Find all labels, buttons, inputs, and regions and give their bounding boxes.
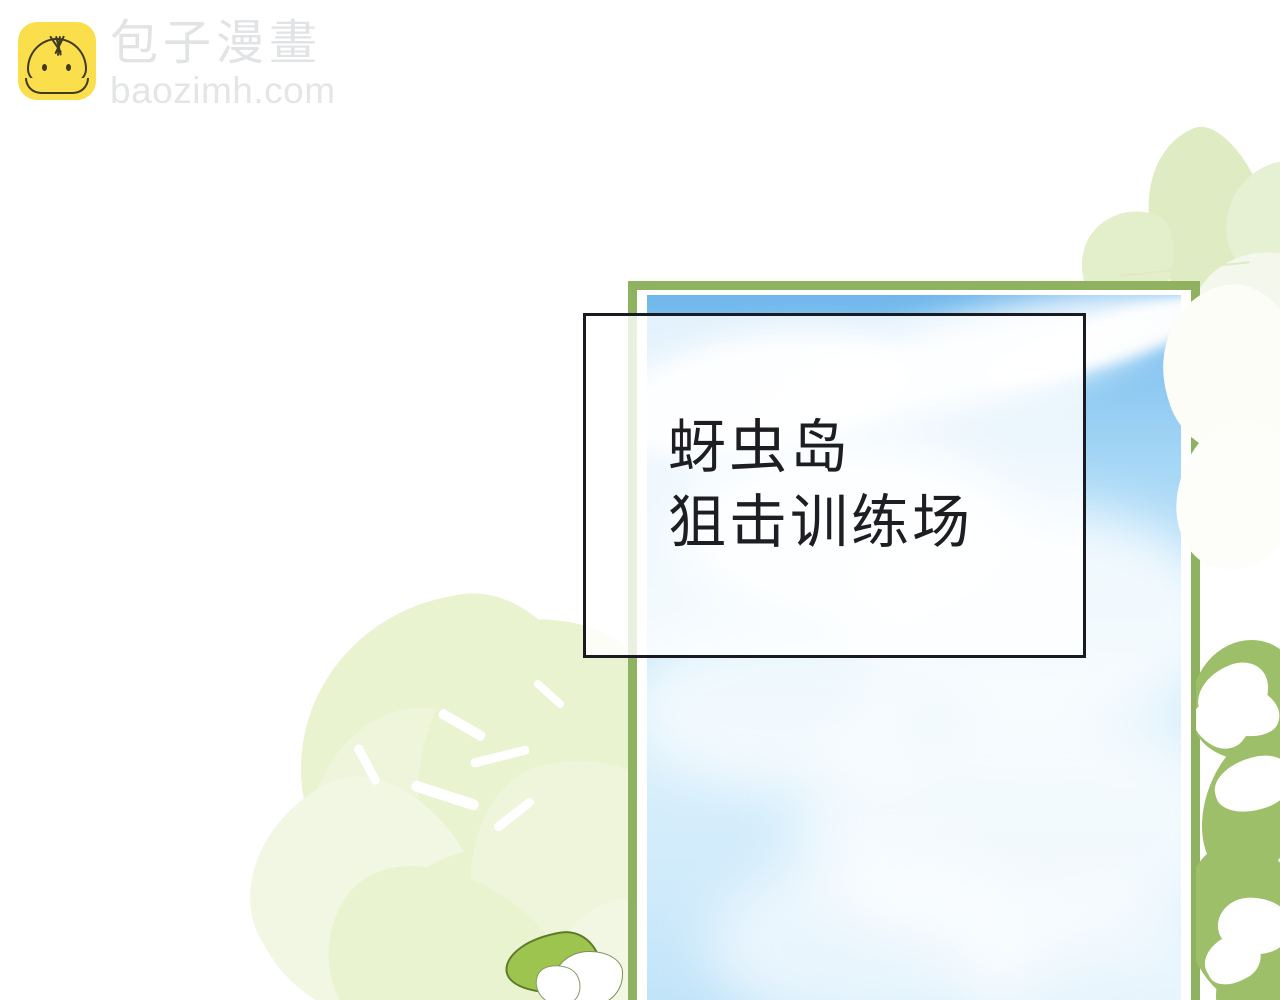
leaf-vein	[492, 796, 535, 833]
caption-card: 蚜虫岛 狙击训练场	[583, 313, 1086, 658]
pale-leaf-icon	[269, 572, 631, 957]
pale-leaf-icon	[210, 741, 521, 1000]
bun-eye-left	[42, 64, 47, 71]
watermark-brand-url: baozimh.com	[110, 72, 336, 109]
leaf-vein	[532, 678, 566, 709]
green-leaf-icon	[1216, 149, 1280, 291]
foreground-leaf-sprig	[505, 925, 635, 1000]
watermark-brand-cn: 包子漫畫	[110, 20, 336, 68]
bun-eye-right	[66, 64, 71, 71]
bun-pleat	[55, 36, 62, 56]
comic-page: 蚜虫岛 狙击训练场 包子漫畫 baozimh.com	[0, 0, 1280, 1000]
leaf-vein	[470, 745, 530, 768]
lily-foliage-cluster	[1196, 640, 1280, 1000]
leaf-vein	[437, 708, 487, 743]
bun-pleat	[49, 35, 62, 53]
bun-pleat	[54, 35, 65, 54]
watermark-text: 包子漫畫 baozimh.com	[110, 20, 336, 109]
leaf-vein	[353, 743, 382, 786]
caption-line-1: 蚜虫岛	[668, 411, 851, 485]
leaf-stem	[1120, 261, 1249, 277]
baozi-bun-logo-icon	[18, 22, 96, 100]
bun-pleat	[57, 36, 61, 56]
caption-line-2: 狙击训练场	[668, 486, 973, 560]
leaf-vein	[410, 779, 480, 811]
site-watermark: 包子漫畫 baozimh.com	[18, 22, 336, 109]
pale-leaf-icon	[267, 674, 533, 976]
bun-base	[25, 78, 89, 94]
bun-body	[27, 38, 87, 88]
